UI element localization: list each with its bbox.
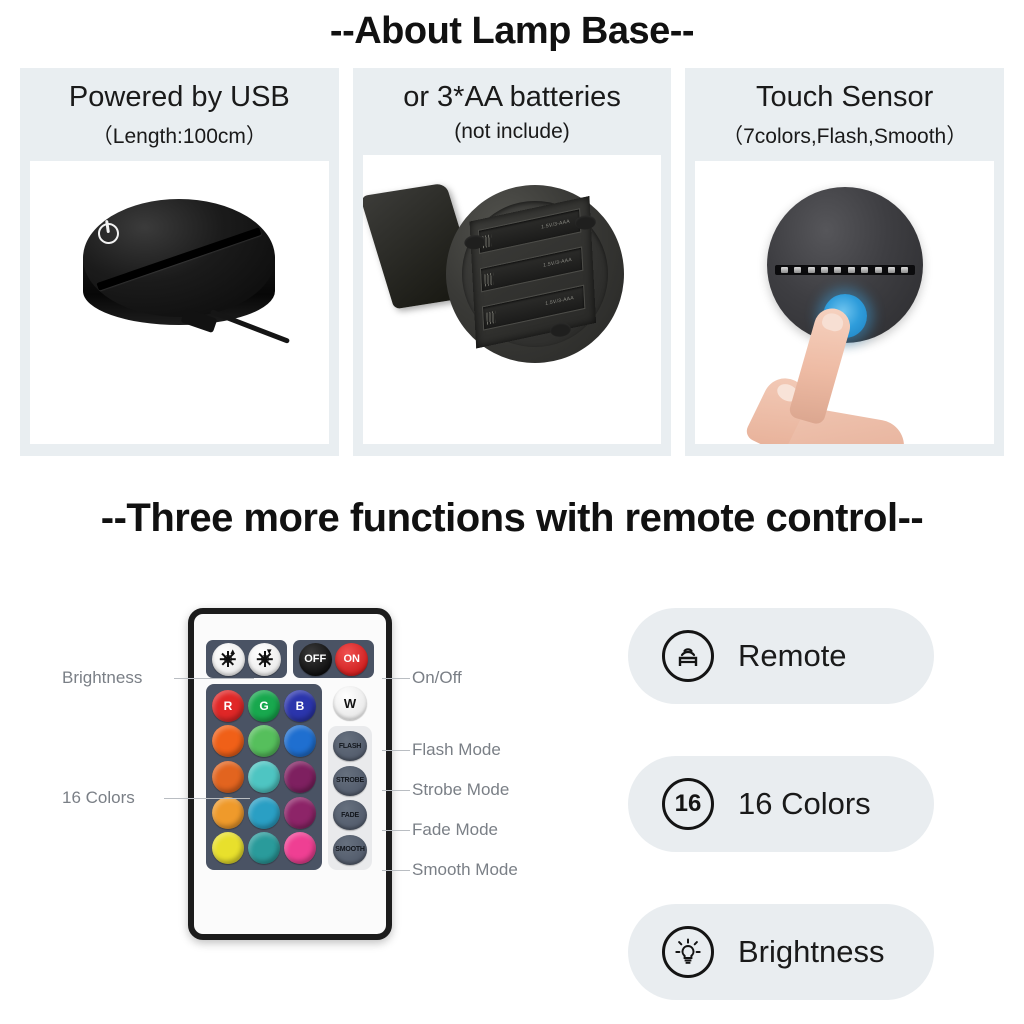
color-button-grid: R G B [206,684,322,870]
battery-spring-icon [484,273,493,287]
strobe-mode-button[interactable]: STROBE [333,766,367,796]
card-subtitle: （Length:100cm） [92,120,267,150]
pill-label: Remote [738,638,847,674]
leader-line [382,830,410,831]
brightness-down-button[interactable]: ▲ [212,643,245,676]
feature-pill-list: Remote 16 16 Colors [628,608,934,1024]
color-button[interactable] [248,797,280,829]
pill-label: Brightness [738,934,884,970]
color-button[interactable] [212,761,244,793]
color-button[interactable] [284,797,316,829]
leader-line [382,678,410,679]
battery-slot: 1.5V/3-AAA [482,285,585,331]
lamp-base-underside: 1.5V/3-AAA 1.5V/3-AAA 1.5V/3-AAA [437,177,633,373]
color-button[interactable] [248,725,280,757]
smooth-mode-button[interactable]: SMOOTH [333,835,367,865]
remote-signal-icon [662,630,714,682]
brightness-button-group: ▲ ▼ [206,640,287,678]
off-button[interactable]: OFF [299,643,332,676]
card-title: Powered by USB [69,81,290,114]
led-strip [775,265,915,275]
battery-slot: 1.5V/3-AAA [478,209,581,255]
page-title-about: --About Lamp Base-- [0,10,1024,53]
card-subtitle: （7colors,Flash,Smooth） [722,120,967,150]
leader-line [382,790,410,791]
remote-right-column: W FLASH STROBE FADE SMOOTH [326,684,374,870]
color-button[interactable] [284,832,316,864]
callout-fade-mode: Fade Mode [412,820,498,840]
white-button[interactable]: W [333,686,367,720]
acrylic-panel-slot [83,199,275,317]
pill-label: 16 Colors [738,786,871,822]
color-button[interactable]: R [212,690,244,722]
card-title: Touch Sensor [756,81,933,114]
brightness-up-button[interactable]: ▼ [248,643,281,676]
color-button[interactable] [284,761,316,793]
lightbulb-icon [662,926,714,978]
color-button[interactable] [212,797,244,829]
card-subtitle: (not include) [454,120,570,144]
brightness-up-icon: ▼ [256,651,273,668]
battery-spring-icon [486,311,495,325]
count-badge-icon: 16 [662,778,714,830]
touch-sensor-photo [695,161,994,444]
color-button[interactable] [248,832,280,864]
badge-number: 16 [675,790,702,818]
page-title-remote: --Three more functions with remote contr… [0,496,1024,541]
pill-16-colors: 16 16 Colors [628,756,934,852]
fade-mode-button[interactable]: FADE [333,800,367,830]
leader-line [382,750,410,751]
remote-section: ▲ ▼ OFF [0,560,1024,1024]
pill-brightness: Brightness [628,904,934,1000]
battery-slot-label: 1.5V/3-AAA [543,257,572,269]
callout-on-off: On/Off [412,668,462,688]
battery-slot-label: 1.5V/3-AAA [545,295,574,307]
color-button[interactable] [284,725,316,757]
leader-line [164,798,250,799]
usb-cable [210,309,290,344]
power-button-group: OFF ON [293,640,374,678]
card-powered-by-usb: Powered by USB （Length:100cm） [20,68,339,456]
pill-remote: Remote [628,608,934,704]
color-button[interactable] [212,832,244,864]
leader-line [382,870,410,871]
callout-flash-mode: Flash Mode [412,740,501,760]
battery-slot-label: 1.5V/3-AAA [541,219,570,231]
callout-strobe-mode: Strobe Mode [412,780,509,800]
leader-line [174,678,254,679]
card-aa-batteries: or 3*AA batteries (not include) 1.5V/3-A… [353,68,672,456]
color-button[interactable] [212,725,244,757]
battery-slot: 1.5V/3-AAA [480,247,583,293]
on-button[interactable]: ON [335,643,368,676]
remote-control: ▲ ▼ OFF [188,608,392,940]
feature-card-row: Powered by USB （Length:100cm） or 3*AA ba… [20,68,1004,456]
flash-mode-button[interactable]: FLASH [333,731,367,761]
card-touch-sensor: Touch Sensor （7colors,Flash,Smooth） [685,68,1004,456]
callout-16-colors: 16 Colors [62,788,135,808]
color-button[interactable]: B [284,690,316,722]
color-button[interactable]: G [248,690,280,722]
callout-smooth-mode: Smooth Mode [412,860,518,880]
brightness-down-icon: ▲ [220,651,237,668]
mode-button-group: FLASH STROBE FADE SMOOTH [328,726,372,870]
color-button[interactable] [248,761,280,793]
battery-compartment-photo: 1.5V/3-AAA 1.5V/3-AAA 1.5V/3-AAA [363,155,662,444]
card-title: or 3*AA batteries [403,81,621,114]
infographic-page: --About Lamp Base-- Powered by USB （Leng… [0,0,1024,1024]
remote-top-row: ▲ ▼ OFF [206,640,374,678]
usb-lamp-base-photo [30,161,329,444]
callout-brightness: Brightness [62,668,142,688]
